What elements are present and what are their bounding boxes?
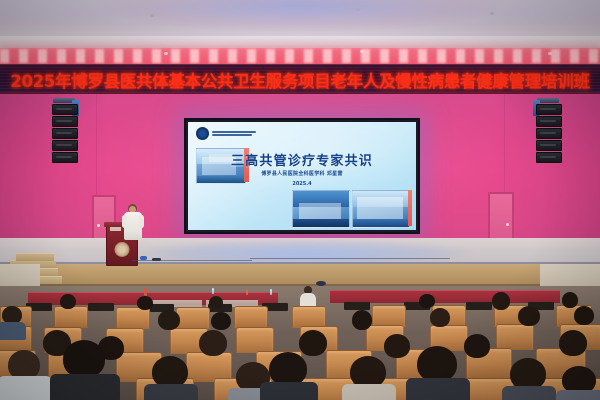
auditorium-seat[interactable]: [236, 327, 274, 353]
speaker-cabinet: [536, 104, 562, 115]
audience-member: [196, 330, 230, 366]
audience-head: [269, 352, 307, 386]
slide-photo-bottom-left: [292, 190, 350, 228]
audience-head: [63, 340, 105, 378]
speaker-cabinet: [536, 152, 562, 163]
ceiling-spot-light: [150, 14, 154, 17]
audience-head: [419, 294, 435, 308]
speaker-cabinet: [52, 128, 78, 139]
audience-member: [412, 346, 462, 400]
audience-head: [518, 306, 540, 326]
speaker-cabinet: [52, 116, 78, 127]
door-knob-icon: [506, 223, 509, 226]
speaker-cabinet: [536, 128, 562, 139]
speaker-cabinet: [52, 152, 78, 163]
presenter-arm: [122, 215, 127, 228]
slide-title: 三高共管诊疗专家共识: [188, 150, 416, 169]
audience-head: [211, 312, 231, 330]
seated-attendee: [300, 286, 316, 308]
audience-member: [58, 340, 110, 400]
audience-head: [199, 330, 227, 356]
auditorium-seat[interactable]: [372, 305, 406, 327]
led-banner-text: 2025年博罗县医共体基本公共卫生服务项目老年人及慢性病患者健康管理培训班: [0, 65, 600, 95]
ceiling-light-haze: [0, 0, 600, 40]
light-strip-bulbs: [0, 49, 600, 63]
photo-ground: [353, 219, 409, 227]
audience-head: [384, 334, 410, 358]
speaker-cabinet: [52, 140, 78, 151]
stage-cable: [132, 260, 252, 261]
photo-building: [357, 197, 403, 219]
logo-text-line: [212, 131, 256, 133]
ceiling-light-strip: [0, 48, 600, 64]
door-knob-icon: [97, 224, 100, 227]
stage-cable: [250, 258, 450, 259]
audience-member: [346, 356, 390, 400]
audience-torso: [502, 386, 556, 400]
water-bottle: [144, 288, 147, 296]
speaker-cabinet: [536, 116, 562, 127]
water-bottle: [246, 289, 248, 295]
logo-emblem-icon: [196, 127, 209, 140]
audience-torso: [0, 322, 26, 340]
ceiling-spot-light: [548, 52, 552, 55]
audience-head: [137, 296, 153, 310]
audience-member: [428, 308, 452, 334]
audience-head: [430, 308, 450, 327]
speaker-cabinet: [536, 140, 562, 151]
audience-head: [464, 334, 490, 358]
audience-member: [350, 310, 374, 336]
audience-head: [492, 292, 510, 310]
audience-member: [208, 296, 224, 312]
audience-torso: [144, 384, 198, 400]
photo-ground: [293, 219, 349, 227]
line-array-speaker-right: [536, 98, 560, 163]
audience-member: [558, 366, 600, 400]
seat-back-gap: [88, 303, 114, 311]
stage-front-panel: [0, 264, 600, 286]
lectern-papers: [110, 227, 121, 231]
audience-member: [462, 334, 492, 368]
speaker-cabinet: [52, 104, 78, 115]
ceiling-spot-light: [360, 50, 364, 53]
hospital-logo: [196, 127, 256, 140]
audience-member: [0, 306, 24, 332]
audience-head: [60, 294, 76, 309]
audience-member: [136, 296, 154, 314]
line-array-speaker-left: [52, 98, 76, 163]
audience-torso: [0, 376, 52, 400]
audience-head: [352, 310, 372, 330]
audience-member: [506, 358, 550, 400]
logo-wordmark: [212, 131, 256, 137]
auditorium-seat[interactable]: [292, 306, 326, 328]
logo-text-line: [212, 134, 252, 136]
projection-screen: 三高共管诊疗专家共识 博罗县人民医院全科医学科 邓星雷 2025.4: [184, 118, 420, 234]
audience-torso: [342, 384, 396, 400]
audience-torso: [406, 378, 470, 400]
water-bottle: [212, 288, 214, 294]
audience-member: [572, 306, 596, 332]
audience-torso: [260, 382, 318, 400]
lectern-emblem-icon: [115, 242, 130, 257]
audience-head: [158, 310, 180, 330]
audience-member: [148, 356, 192, 400]
slide-date: 2025.4: [188, 181, 416, 187]
presenter-arm: [139, 215, 144, 228]
audience-member: [58, 294, 78, 314]
conference-hall-photo: 2025年博罗县医共体基本公共卫生服务项目老年人及慢性病患者健康管理培训班: [0, 0, 600, 400]
audience-member: [556, 330, 590, 366]
audience-member: [156, 310, 182, 336]
audience-head: [574, 306, 594, 325]
seat-back-gap: [466, 302, 492, 310]
audience-head: [559, 330, 587, 356]
photo-building: [299, 203, 341, 219]
audience-member: [490, 292, 512, 314]
presentation-slide: 三高共管诊疗专家共识 博罗县人民医院全科医学科 邓星雷 2025.4: [188, 122, 416, 230]
seat-back-gap: [344, 302, 370, 310]
audience-head: [209, 296, 223, 309]
water-bottle: [270, 289, 272, 295]
ceiling-spot-light: [164, 52, 168, 55]
audience-member: [4, 350, 44, 400]
slide-subtitle: 博罗县人民医院全科医学科 邓星雷: [188, 170, 416, 177]
slide-accent-bar: [408, 190, 412, 226]
ceiling-spot-light: [356, 8, 360, 11]
ceiling-spot-light: [490, 12, 494, 15]
slide-photo-bottom-right: [352, 190, 410, 228]
audience-member: [516, 306, 542, 334]
auditorium-seat[interactable]: [234, 306, 268, 328]
audience-member: [264, 352, 312, 400]
audience-torso: [50, 374, 120, 400]
audience-torso: [556, 390, 600, 400]
speaker-rigging: [537, 98, 559, 103]
presenter-speaking: [124, 204, 142, 240]
audience-head: [417, 346, 457, 382]
